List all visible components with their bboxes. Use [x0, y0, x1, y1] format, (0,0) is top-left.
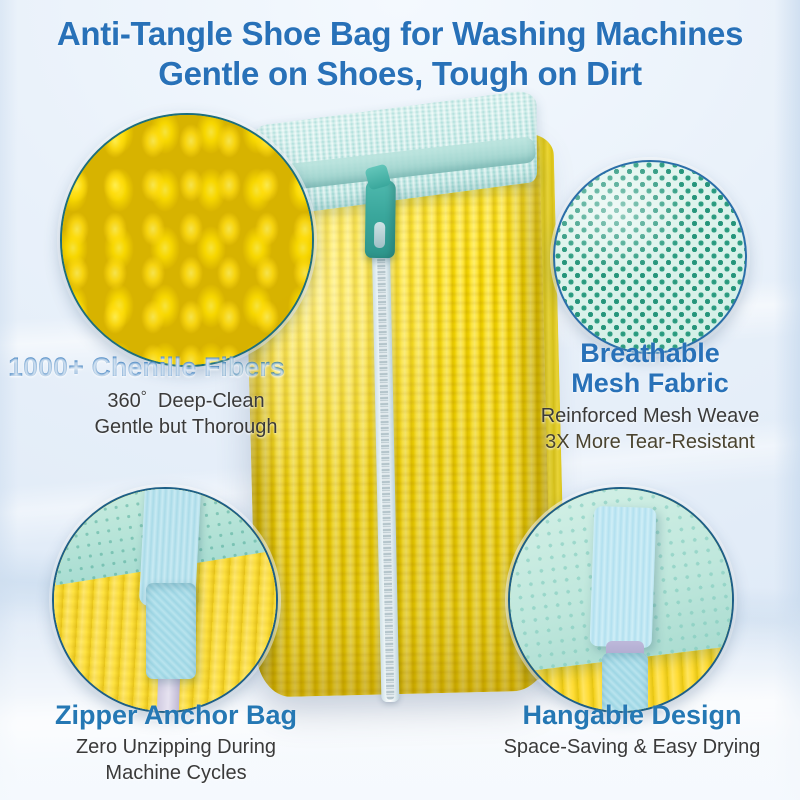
feature-mesh-sub-line-1: Reinforced Mesh Weave [500, 404, 800, 430]
feature-hangable-title: Hangable Design [462, 700, 800, 730]
feature-hangable-design: Hangable Design Space-Saving & Easy Dryi… [462, 700, 800, 761]
headline-line-1: Anti-Tangle Shoe Bag for Washing Machine… [0, 14, 800, 54]
degree-symbol-icon: ° [141, 388, 147, 405]
feature-zipper-anchor: Zipper Anchor Bag Zero Unzipping During … [6, 700, 346, 786]
feature-mesh-subtext: Reinforced Mesh Weave 3X More Tear-Resis… [500, 404, 800, 455]
chenille-degree-value: 360 [107, 390, 140, 412]
infographic-canvas: Anti-Tangle Shoe Bag for Washing Machine… [0, 0, 800, 800]
headline: Anti-Tangle Shoe Bag for Washing Machine… [0, 14, 800, 95]
zipper-pull-slot [374, 222, 385, 248]
inset-hangable-strap-closeup [508, 487, 734, 713]
mesh-sheen [555, 162, 745, 352]
feature-chenille-sub-line-1: 360° Deep-Clean [24, 389, 348, 415]
feature-mesh-title-line-1: Breathable [580, 338, 720, 368]
feature-zipper-subtext: Zero Unzipping During Machine Cycles [6, 735, 346, 786]
inset-chenille-fiber-closeup [60, 113, 314, 367]
feature-chenille-fibers: 1000+ Chenille Fibers 360° Deep-Clean Ge… [8, 352, 348, 440]
feature-mesh-title-line-2: Mesh Fabric [571, 368, 729, 398]
feature-mesh-sub-line-2: 3X More Tear-Resistant [500, 430, 800, 456]
hangable-inset-hanging-strap [590, 506, 657, 648]
inset-mesh-fabric-closeup [553, 160, 747, 354]
feature-chenille-subtext: 360° Deep-Clean Gentle but Thorough [8, 389, 348, 440]
feature-zipper-title: Zipper Anchor Bag [6, 700, 346, 730]
chenille-deep-clean-label: Deep-Clean [158, 390, 265, 412]
feature-chenille-title: 1000+ Chenille Fibers [8, 352, 348, 382]
zipper-pull [365, 180, 396, 258]
feature-hangable-subtext: Space-Saving & Easy Drying [462, 735, 800, 761]
feature-chenille-sub-line-2: Gentle but Thorough [24, 415, 348, 441]
zipper-inset-anchor-pocket [146, 583, 196, 679]
feature-zipper-sub-line-1: Zero Unzipping During [6, 735, 346, 761]
inset-zipper-anchor-closeup [52, 487, 278, 713]
headline-line-2: Gentle on Shoes, Tough on Dirt [0, 54, 800, 94]
chenille-nubs-overlay [60, 113, 314, 367]
feature-mesh-title: Breathable Mesh Fabric [500, 338, 800, 398]
feature-hangable-sub-line-1: Space-Saving & Easy Drying [462, 735, 800, 761]
feature-zipper-sub-line-2: Machine Cycles [6, 761, 346, 787]
feature-breathable-mesh: Breathable Mesh Fabric Reinforced Mesh W… [500, 338, 800, 456]
